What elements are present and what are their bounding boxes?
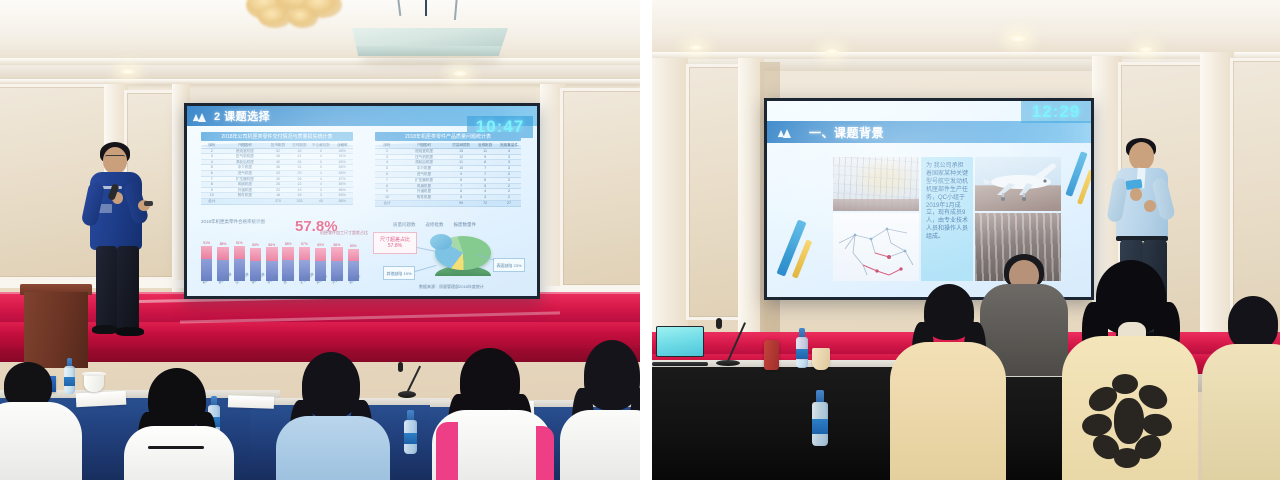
callout-tertiary-text: 表面缺陷 23% bbox=[496, 263, 521, 268]
table-cell: 合计 bbox=[201, 199, 222, 205]
red-thermos bbox=[764, 340, 779, 370]
slide-text-block: 为 我公司承担着国家某种关键型号航空发动机机匣部件生产任务，QC小组于2019年… bbox=[921, 157, 973, 281]
gooseneck-microphone bbox=[716, 316, 740, 366]
highlight-note: 机匣零件加工尺寸超差占比 bbox=[320, 230, 368, 236]
bar-segment-upper bbox=[348, 249, 359, 262]
callout-leader-line bbox=[415, 265, 436, 272]
legend-entry: 报废数量件 bbox=[454, 222, 477, 228]
bar-segment-upper bbox=[266, 247, 277, 260]
slide-body-left: 2018年公司机匣类零件交付情况与质量损失统计表 序号产品名称投产批数交付批数不… bbox=[187, 126, 537, 296]
table-cell: 325 bbox=[289, 199, 310, 205]
bar-segment-upper bbox=[299, 247, 310, 260]
factory-workshop-photo bbox=[833, 157, 919, 211]
downlight bbox=[824, 48, 840, 55]
table-cell: 返修批数 bbox=[473, 143, 497, 149]
downlight bbox=[120, 68, 136, 75]
paper-cup bbox=[812, 348, 830, 370]
mountain-logo-icon bbox=[777, 126, 795, 138]
callout-secondary-text: 其他缺陷 19% bbox=[386, 271, 411, 276]
map-lines-icon bbox=[833, 213, 919, 281]
audience-foreground-right bbox=[1078, 260, 1182, 480]
table-cell: 序号 bbox=[201, 143, 222, 149]
bar-segment-upper bbox=[250, 248, 261, 261]
bar-axis-labels: 机匣A燃烧室机匣压气机机匣涡轮后机匣中介机匣进气机匣扩压器机匣风扇机匣外涵机匣附… bbox=[201, 281, 359, 292]
audience-member bbox=[286, 352, 382, 480]
right-photo: 一、课题背景 12:29 bbox=[652, 0, 1280, 480]
right-room: 一、课题背景 12:29 bbox=[652, 0, 1280, 480]
audience-member bbox=[904, 284, 992, 480]
downlight bbox=[452, 70, 468, 77]
airplane-icon bbox=[975, 157, 1061, 211]
table-cell bbox=[222, 199, 267, 205]
table-cell: 交付批数 bbox=[289, 143, 310, 149]
bar-chart-caption: 2018年机匣类零件合格率统计图 bbox=[201, 219, 265, 225]
table-cell: 序号 bbox=[375, 143, 399, 149]
chandelier bbox=[236, 0, 358, 40]
table-cell: 产品名称 bbox=[222, 143, 267, 149]
table-cell: 88% bbox=[332, 199, 353, 205]
mountain-logo-icon bbox=[192, 111, 208, 122]
water-bottle bbox=[812, 390, 828, 446]
papers bbox=[228, 395, 274, 409]
callout-tertiary: 表面缺陷 23% bbox=[493, 258, 525, 272]
table-row: 合计3703254588% bbox=[201, 199, 353, 205]
callout-secondary: 其他缺陷 19% bbox=[383, 266, 415, 280]
presentation-clicker bbox=[144, 201, 153, 206]
eyeglasses-icon bbox=[105, 155, 125, 159]
ceiling-cornice bbox=[0, 58, 640, 65]
bar-value-label: 83% bbox=[342, 244, 364, 248]
right-ceiling bbox=[652, 0, 1280, 58]
laptop bbox=[656, 326, 704, 366]
collage-root: 2 课题选择 10:47 2018年公司机匣类零件交付情况与质量损失统计表 序号… bbox=[0, 0, 1280, 480]
audience-member bbox=[0, 362, 74, 480]
slide-title-left: 2 课题选择 bbox=[214, 108, 270, 124]
table-cell: 合格率 bbox=[332, 143, 353, 149]
panel-divider bbox=[640, 0, 652, 480]
audience-member bbox=[440, 348, 544, 480]
bar-segment-upper bbox=[201, 246, 212, 260]
slide-surface-left: 2 课题选择 10:47 2018年公司机匣类零件交付情况与质量损失统计表 序号… bbox=[187, 106, 537, 296]
legend-entry: 质量问题数 bbox=[393, 222, 416, 228]
table-cell bbox=[399, 201, 449, 207]
table-caption-right: 2018年机匣类零件产品质量问题统计表 bbox=[375, 132, 521, 141]
legend-entry: 返修批数 bbox=[426, 222, 444, 228]
audience-member bbox=[566, 340, 640, 480]
tea-cup bbox=[84, 374, 104, 392]
table-cell: 产品名称 bbox=[399, 143, 449, 149]
audience-member bbox=[132, 368, 228, 480]
network-map-diagram bbox=[833, 213, 919, 281]
callout-primary-text: 尺寸超差占比 57.8% bbox=[374, 237, 416, 250]
hand-right bbox=[1144, 200, 1156, 212]
slide-timer-right: 12:29 bbox=[1021, 101, 1091, 123]
data-table-right: 序号产品名称质量问题数返修批数报废数量件1机匣A161242燃烧室机匣15114… bbox=[375, 143, 521, 207]
table-cell: 投产批数 bbox=[267, 143, 288, 149]
bar-segment-upper bbox=[234, 246, 245, 260]
table-row: 合计997227 bbox=[375, 201, 521, 207]
bar-segment-upper bbox=[315, 248, 326, 261]
wall-panel bbox=[560, 88, 640, 288]
pink-sleeve bbox=[536, 426, 554, 480]
table-cell: 99 bbox=[449, 201, 473, 207]
table-cell: 报废数量件 bbox=[497, 143, 521, 149]
hand-left bbox=[1130, 188, 1142, 201]
pink-sleeve bbox=[436, 422, 458, 480]
downlight bbox=[688, 44, 704, 51]
slide-header-right: 一、课题背景 bbox=[767, 121, 1091, 143]
table-cell: 质量问题数 bbox=[449, 143, 473, 149]
wall-column bbox=[652, 58, 688, 358]
downlight bbox=[1138, 46, 1154, 53]
table-cell: 72 bbox=[473, 201, 497, 207]
table-row: 序号产品名称投产批数交付批数不合格批数合格率 bbox=[201, 143, 353, 149]
presenter-table-right bbox=[652, 360, 924, 480]
audience-member bbox=[1212, 296, 1280, 480]
downlight bbox=[1008, 34, 1028, 43]
left-photo: 2 课题选择 10:47 2018年公司机匣类零件交付情况与质量损失统计表 序号… bbox=[0, 0, 640, 480]
slide-title-right: 一、课题背景 bbox=[809, 124, 884, 141]
table-cell: 27 bbox=[497, 201, 521, 207]
bar-segment-upper bbox=[282, 247, 293, 260]
chart-footer: 数据来源：质量管理部2018年度统计 bbox=[419, 284, 484, 290]
table-cell: 370 bbox=[267, 199, 288, 205]
bag-strap bbox=[148, 446, 204, 449]
ceiling-band bbox=[0, 65, 640, 79]
wooden-podium bbox=[20, 284, 92, 368]
chart-legend-right: 质量问题数返修批数报废数量件 bbox=[393, 222, 476, 228]
gooseneck-microphone bbox=[398, 362, 416, 398]
table-row: 序号产品名称质量问题数返修批数报废数量件 bbox=[375, 143, 521, 149]
data-table-left: 序号产品名称投产批数交付批数不合格批数合格率1机匣A6862691%2燃烧室机匣… bbox=[201, 143, 353, 205]
flower-print-graphic bbox=[1084, 370, 1172, 468]
callout-primary: 尺寸超差占比 57.8% bbox=[373, 232, 417, 254]
water-bottle bbox=[404, 410, 417, 454]
bar-segment-upper bbox=[331, 247, 342, 260]
wall-panel bbox=[686, 64, 742, 320]
table-cell: 不合格批数 bbox=[310, 143, 331, 149]
bar-segment-upper bbox=[217, 247, 228, 260]
table-cell: 45 bbox=[310, 199, 331, 205]
left-room: 2 课题选择 10:47 2018年公司机匣类零件交付情况与质量损失统计表 序号… bbox=[0, 0, 640, 480]
water-bottle bbox=[796, 328, 808, 368]
table-caption-left: 2018年公司机匣类零件交付情况与质量损失统计表 bbox=[201, 132, 353, 141]
projection-screen-left[interactable]: 2 课题选择 10:47 2018年公司机匣类零件交付情况与质量损失统计表 序号… bbox=[184, 103, 540, 299]
table-cell: 合计 bbox=[375, 201, 399, 207]
aircraft-photo bbox=[975, 157, 1061, 211]
papers bbox=[76, 391, 127, 408]
